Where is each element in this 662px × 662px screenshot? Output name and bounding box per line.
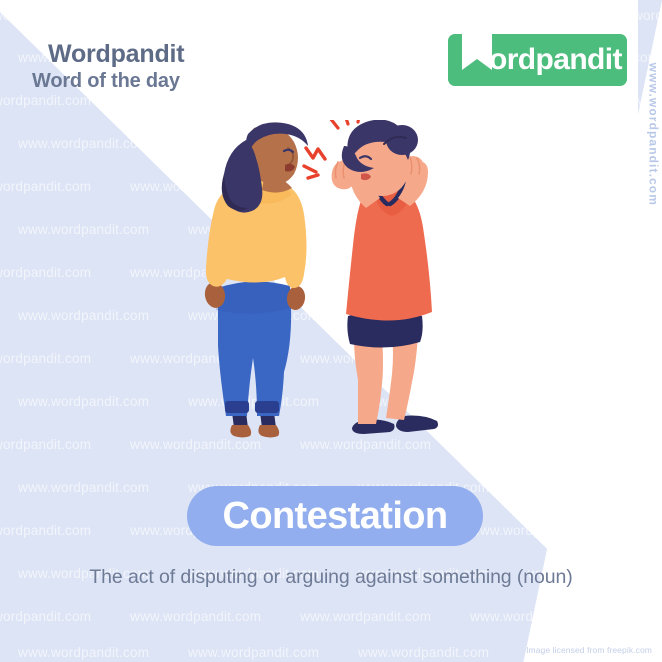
stress-lines: [330, 120, 360, 128]
anger-marks: [304, 148, 325, 178]
word-definition: The act of disputing or arguing against …: [0, 566, 662, 589]
word-of-the-day-card: www.wordpandit.comwww.wordpandit.comwww.…: [0, 0, 662, 662]
page-title: Wordpandit: [48, 40, 184, 69]
vertical-watermark: www.wordpandit.com: [646, 63, 660, 206]
logo-text: ordpandit: [489, 43, 622, 77]
word-term: Contestation: [222, 495, 447, 538]
word-of-the-day-pill: Contestation: [187, 486, 483, 546]
page-subtitle: Word of the day: [32, 70, 180, 93]
wordpandit-logo[interactable]: ordpandit: [448, 34, 627, 86]
right-figure-covering-ears: [330, 120, 438, 434]
two-women-arguing-illustration: [188, 120, 488, 450]
image-credit: Image licensed from freepik.com: [526, 645, 652, 655]
bookmark-w-icon: [462, 30, 492, 76]
illustration: [188, 120, 488, 450]
left-figure-shouting-woman: [203, 122, 325, 437]
